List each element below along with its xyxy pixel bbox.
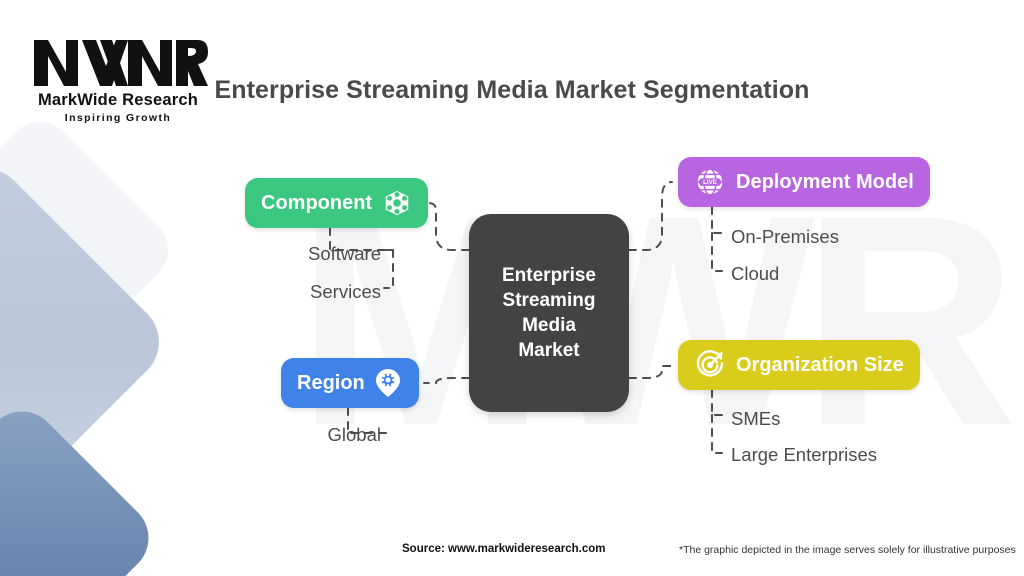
branch-node-component[interactable]: Component	[245, 178, 428, 228]
live-globe-icon: LIVE	[694, 166, 726, 198]
connector-center-orgsize	[629, 366, 674, 378]
connector-center-component	[428, 203, 469, 250]
connector-orgsize-stem	[712, 390, 722, 415]
sub-item-services[interactable]: Services	[281, 281, 381, 303]
center-line-1: Enterprise	[502, 265, 596, 286]
branch-label-component: Component	[261, 192, 372, 215]
center-line-3: Media	[522, 315, 576, 336]
branch-label-region: Region	[297, 372, 365, 395]
sub-item-global[interactable]: Global	[281, 424, 381, 446]
sub-item-cloud[interactable]: Cloud	[731, 263, 779, 285]
connector-center-deployment	[629, 182, 672, 250]
source-note: Source: www.markwideresearch.com	[402, 543, 605, 555]
sub-item-software[interactable]: Software	[281, 243, 381, 265]
connector-center-region	[424, 378, 469, 383]
branch-label-deployment: Deployment Model	[736, 171, 914, 194]
target-arrow-icon	[694, 349, 726, 381]
map-pin-gear-icon	[373, 367, 403, 399]
connector-orgsize-branch	[712, 415, 722, 453]
connector-deployment-branch	[712, 233, 722, 271]
svg-text:LIVE: LIVE	[703, 179, 717, 186]
disclaimer-note: *The graphic depicted in the image serve…	[679, 544, 1016, 556]
sub-item-smes[interactable]: SMEs	[731, 408, 780, 430]
connector-component-branch	[384, 250, 393, 288]
center-node[interactable]: Enterprise Streaming Media Market	[469, 214, 629, 412]
center-node-label: Enterprise Streaming Media Market	[502, 263, 596, 363]
sub-item-on-premises[interactable]: On-Premises	[731, 226, 839, 248]
center-line-4: Market	[518, 340, 579, 361]
sub-item-large-enterprises[interactable]: Large Enterprises	[731, 444, 877, 466]
branch-node-deployment[interactable]: LIVE Deployment Model	[678, 157, 930, 207]
center-line-2: Streaming	[503, 290, 596, 311]
branch-node-orgsize[interactable]: Organization Size	[678, 340, 920, 390]
branch-node-region[interactable]: Region	[281, 358, 419, 408]
cube-network-icon	[382, 188, 412, 218]
connector-deployment-stem	[712, 207, 722, 233]
branch-label-orgsize: Organization Size	[736, 354, 904, 377]
